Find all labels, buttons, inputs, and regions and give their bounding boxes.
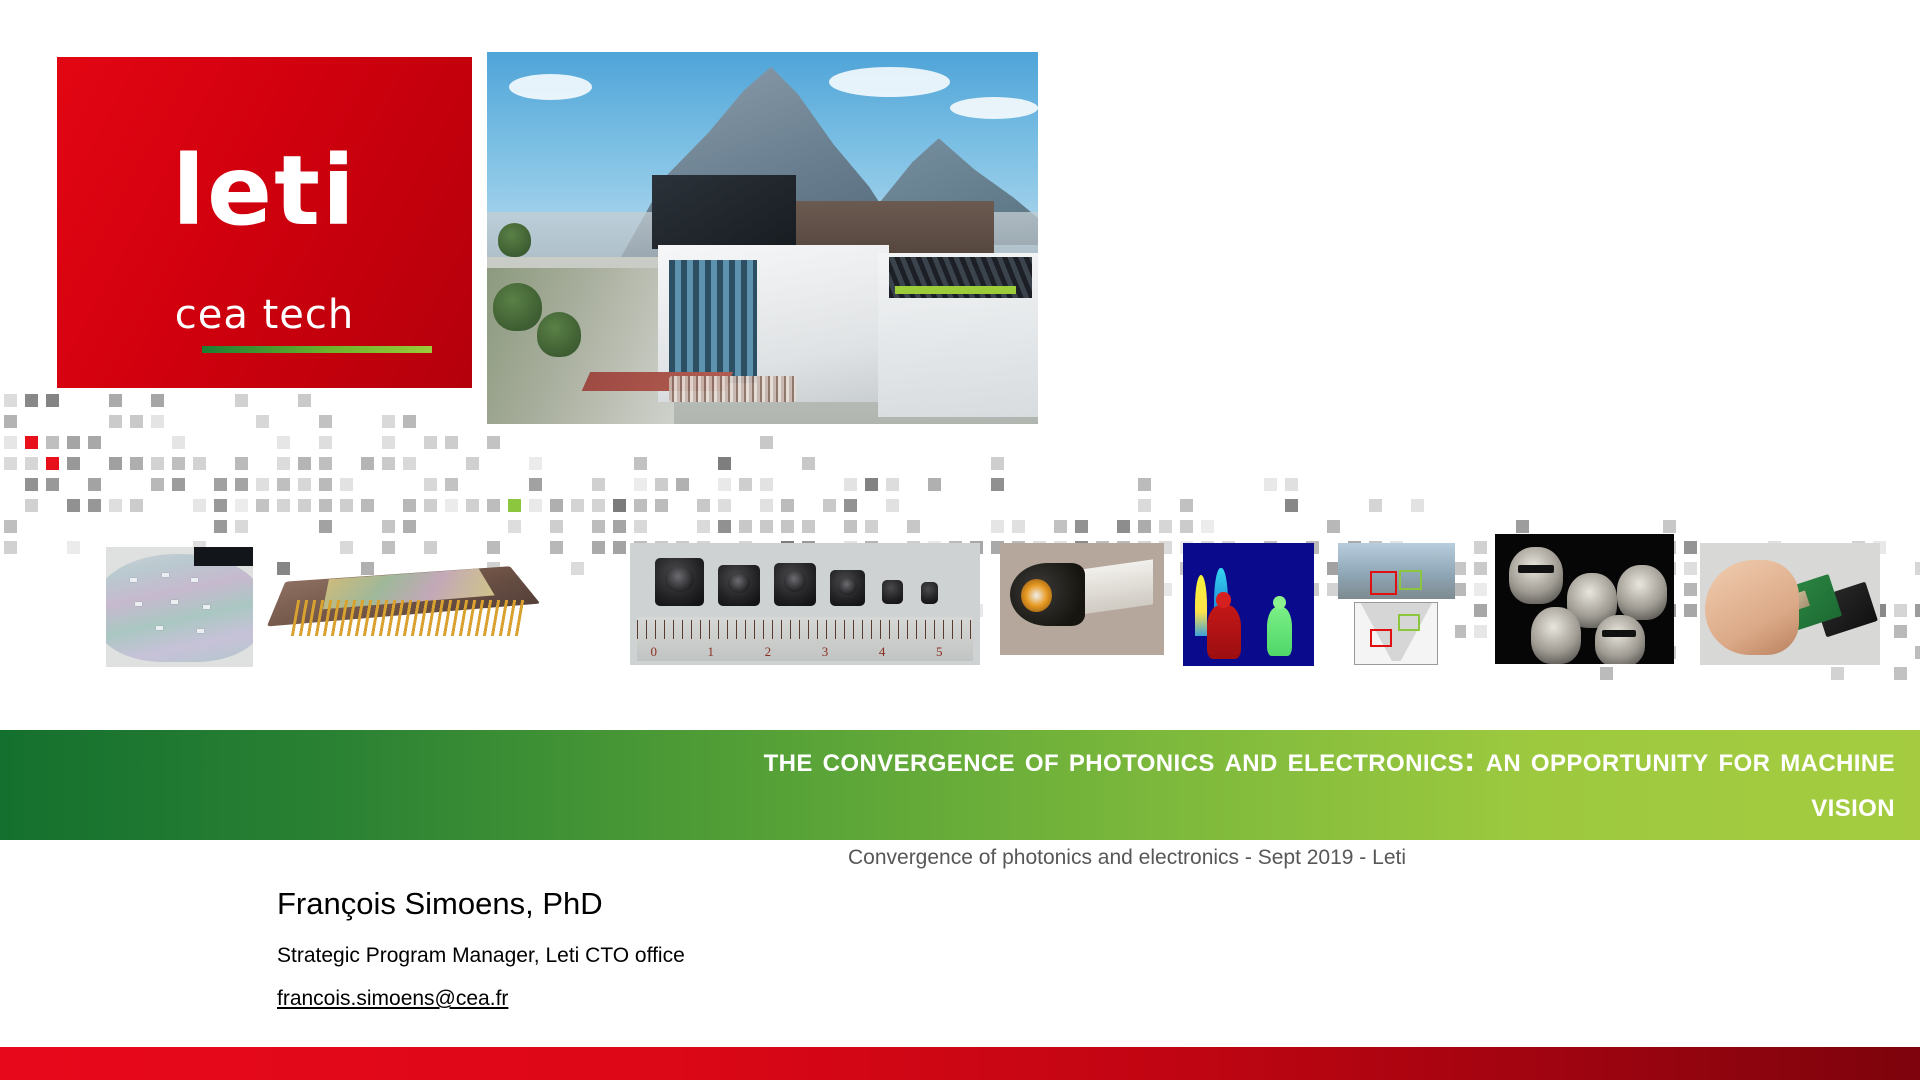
camera-module — [655, 558, 704, 607]
mosaic-pixel — [235, 499, 248, 512]
camera-modules-photo: 0 1 2 3 4 5 — [630, 543, 980, 665]
mosaic-pixel — [487, 499, 500, 512]
mosaic-pixel — [4, 436, 17, 449]
mosaic-pixel — [403, 457, 416, 470]
mosaic-pixel — [1075, 520, 1088, 533]
ruler-number: 5 — [936, 644, 943, 660]
mosaic-pixel — [1201, 520, 1214, 533]
mosaic-pixel — [172, 478, 185, 491]
mosaic-pixel — [235, 394, 248, 407]
mosaic-pixel — [382, 520, 395, 533]
mosaic-pixel — [529, 478, 542, 491]
mosaic-pixel — [235, 478, 248, 491]
slide-subtitle: Convergence of photonics and electronics… — [848, 846, 1406, 870]
mosaic-pixel — [235, 520, 248, 533]
mosaic-pixel — [1369, 499, 1382, 512]
mosaic-pixel — [508, 520, 521, 533]
photo-cloud — [950, 97, 1038, 119]
ruler-number: 3 — [822, 644, 829, 660]
mosaic-pixel — [592, 478, 605, 491]
mosaic-pixel — [46, 457, 59, 470]
mosaic-pixel — [151, 478, 164, 491]
mosaic-pixel — [508, 499, 521, 512]
mosaic-pixel — [760, 520, 773, 533]
mosaic-pixel — [361, 457, 374, 470]
wafer-surface — [106, 554, 253, 662]
mosaic-pixel — [1285, 499, 1298, 512]
mosaic-pixel — [424, 478, 437, 491]
mosaic-pixel — [340, 478, 353, 491]
lidar-detection-photo — [1338, 543, 1455, 665]
mosaic-pixel — [4, 541, 17, 554]
infrared-faces-photo — [1495, 534, 1674, 664]
photo-glass-facade — [669, 260, 757, 383]
mosaic-pixel — [550, 499, 563, 512]
mosaic-pixel — [592, 520, 605, 533]
mosaic-pixel — [1600, 667, 1613, 680]
ruler-number: 0 — [650, 644, 657, 660]
mosaic-pixel — [1663, 520, 1676, 533]
mosaic-pixel — [739, 520, 752, 533]
lidar-range-plot — [1354, 602, 1438, 665]
mosaic-pixel — [1327, 520, 1340, 533]
mosaic-pixel — [172, 436, 185, 449]
wafer-die — [130, 578, 137, 582]
mosaic-pixel — [1516, 520, 1529, 533]
mosaic-pixel — [613, 541, 626, 554]
mosaic-pixel — [1684, 541, 1697, 554]
hand-holding-pcb-photo — [1700, 543, 1880, 665]
mosaic-pixel — [382, 436, 395, 449]
mosaic-pixel — [319, 415, 332, 428]
wafer-die — [197, 629, 204, 633]
mosaic-pixel — [445, 436, 458, 449]
mosaic-pixel — [1054, 520, 1067, 533]
mosaic-pixel — [46, 478, 59, 491]
mosaic-pixel — [25, 478, 38, 491]
mosaic-pixel — [403, 520, 416, 533]
title-band: The convergence of photonics and electro… — [0, 730, 1920, 840]
thermal-imaging-photo — [1183, 543, 1314, 666]
photo-tree — [537, 312, 581, 357]
mosaic-pixel — [403, 415, 416, 428]
mosaic-pixel — [1474, 562, 1487, 575]
mosaic-pixel — [1831, 667, 1844, 680]
mosaic-pixel — [1915, 604, 1920, 617]
mosaic-pixel — [1684, 604, 1697, 617]
mosaic-pixel — [634, 520, 647, 533]
mosaic-pixel — [25, 499, 38, 512]
mosaic-pixel — [130, 457, 143, 470]
camera-module — [921, 582, 939, 604]
mosaic-pixel — [1285, 478, 1298, 491]
mosaic-pixel — [886, 499, 899, 512]
mosaic-pixel — [88, 499, 101, 512]
mosaic-pixel — [172, 457, 185, 470]
mosaic-pixel — [1264, 478, 1277, 491]
mosaic-pixel — [634, 457, 647, 470]
thermal-person-warm — [1207, 605, 1241, 659]
ir-face — [1531, 607, 1581, 664]
silicon-wafer-photo — [106, 547, 253, 667]
mosaic-pixel — [697, 499, 710, 512]
mosaic-pixel — [109, 499, 122, 512]
mosaic-pixel — [1894, 604, 1907, 617]
wafer-die — [203, 605, 210, 609]
mosaic-pixel — [319, 457, 332, 470]
author-role: Strategic Program Manager, Leti CTO offi… — [277, 942, 685, 969]
mosaic-pixel — [844, 478, 857, 491]
mosaic-pixel — [592, 541, 605, 554]
mosaic-pixel — [991, 478, 1004, 491]
mosaic-pixel — [634, 499, 647, 512]
mosaic-pixel — [1474, 625, 1487, 638]
mosaic-pixel — [1474, 604, 1487, 617]
detection-box-green — [1398, 614, 1420, 631]
mosaic-pixel — [1684, 562, 1697, 575]
mosaic-pixel — [67, 499, 80, 512]
mosaic-pixel — [256, 478, 269, 491]
mosaic-pixel — [445, 499, 458, 512]
mosaic-pixel — [571, 499, 584, 512]
mosaic-pixel — [319, 499, 332, 512]
mosaic-pixel — [214, 478, 227, 491]
wafer-die — [162, 573, 169, 577]
photo-green-accent-band — [895, 286, 1016, 293]
mosaic-pixel — [697, 520, 710, 533]
mosaic-pixel — [88, 436, 101, 449]
mosaic-pixel — [1180, 520, 1193, 533]
mosaic-pixel — [907, 520, 920, 533]
mosaic-pixel — [319, 478, 332, 491]
mosaic-pixel — [802, 520, 815, 533]
author-email-link[interactable]: francois.simoens@cea.fr — [277, 987, 508, 1011]
detection-box-red — [1370, 571, 1397, 595]
wafer-background-dark — [194, 547, 253, 566]
camera-module — [718, 565, 760, 606]
wafer-die — [171, 600, 178, 604]
mosaic-pixel — [193, 457, 206, 470]
mosaic-pixel — [718, 520, 731, 533]
mosaic-pixel — [382, 415, 395, 428]
camera-lens — [784, 570, 807, 592]
mosaic-pixel — [1117, 520, 1130, 533]
mosaic-pixel — [361, 499, 374, 512]
leti-campus-building-photo — [487, 52, 1038, 424]
mosaic-pixel — [151, 394, 164, 407]
mosaic-pixel — [760, 436, 773, 449]
wafer-die — [156, 626, 163, 630]
mosaic-pixel — [67, 436, 80, 449]
ir-face — [1509, 547, 1563, 604]
mosaic-pixel — [592, 499, 605, 512]
mosaic-pixel — [844, 499, 857, 512]
mosaic-pixel — [319, 436, 332, 449]
mosaic-pixel — [109, 415, 122, 428]
mosaic-pixel — [277, 499, 290, 512]
mosaic-pixel — [277, 436, 290, 449]
thermal-person-cool — [1267, 607, 1292, 656]
mosaic-pixel — [1138, 499, 1151, 512]
mosaic-pixel — [67, 541, 80, 554]
mosaic-pixel — [67, 457, 80, 470]
mosaic-pixel — [781, 499, 794, 512]
ruler-number: 4 — [879, 644, 886, 660]
mosaic-pixel — [718, 457, 731, 470]
mosaic-pixel — [1915, 562, 1920, 575]
mosaic-pixel — [130, 499, 143, 512]
mosaic-pixel — [1180, 499, 1193, 512]
bottom-accent-bar — [0, 1047, 1920, 1080]
mosaic-pixel — [151, 415, 164, 428]
logo-underline-bar — [202, 346, 432, 353]
mosaic-pixel — [298, 499, 311, 512]
mosaic-pixel — [4, 394, 17, 407]
sunglasses-icon — [1518, 565, 1554, 573]
mosaic-pixel — [571, 562, 584, 575]
mosaic-pixel — [319, 520, 332, 533]
mosaic-pixel — [1894, 625, 1907, 638]
leti-wordmark: leti — [57, 143, 472, 239]
detection-box-green — [1399, 570, 1422, 590]
mosaic-pixel — [844, 520, 857, 533]
photo-dark-glass-block — [652, 175, 795, 249]
mosaic-pixel — [991, 520, 1004, 533]
mosaic-pixel — [760, 478, 773, 491]
mosaic-pixel — [1138, 478, 1151, 491]
ruler-number: 1 — [708, 644, 715, 660]
endoscope-tube — [1074, 560, 1153, 616]
mosaic-pixel — [298, 457, 311, 470]
endoscope-optics-photo — [1000, 543, 1164, 655]
mosaic-pixel — [382, 457, 395, 470]
mosaic-pixel — [298, 478, 311, 491]
mosaic-pixel — [1894, 667, 1907, 680]
sunglasses-icon — [1602, 630, 1636, 637]
ir-face — [1595, 615, 1645, 664]
mosaic-pixel — [25, 436, 38, 449]
photo-crowd — [669, 376, 796, 402]
detection-box-red — [1370, 629, 1392, 646]
mosaic-pixel — [25, 394, 38, 407]
mosaic-pixel — [823, 499, 836, 512]
ir-face — [1617, 565, 1667, 620]
mosaic-pixel — [991, 457, 1004, 470]
mosaic-pixel — [25, 457, 38, 470]
mosaic-pixel — [760, 499, 773, 512]
mosaic-pixel — [529, 499, 542, 512]
camera-lens — [838, 577, 857, 595]
slide-title: The convergence of photonics and electro… — [715, 738, 1895, 828]
mosaic-pixel — [340, 499, 353, 512]
mosaic-pixel — [1684, 583, 1697, 596]
mosaic-pixel — [886, 478, 899, 491]
mosaic-pixel — [466, 457, 479, 470]
mosaic-pixel — [865, 520, 878, 533]
hand — [1705, 560, 1799, 655]
mosaic-pixel — [256, 415, 269, 428]
mosaic-pixel — [487, 436, 500, 449]
ruler-ticks — [637, 620, 973, 638]
mosaic-pixel — [277, 478, 290, 491]
mosaic-pixel — [1915, 646, 1920, 659]
photo-tree — [493, 283, 543, 331]
mosaic-pixel — [256, 499, 269, 512]
mosaic-pixel — [403, 499, 416, 512]
thermal-plume — [1195, 575, 1207, 637]
camera-lens — [728, 573, 751, 593]
author-name: François Simoens, PhD — [277, 885, 685, 924]
ruler-number: 2 — [765, 644, 772, 660]
mosaic-pixel — [781, 520, 794, 533]
mosaic-pixel — [4, 457, 17, 470]
camera-module — [882, 580, 903, 604]
mosaic-pixel — [298, 394, 311, 407]
mosaic-pixel — [718, 478, 731, 491]
mosaic-pixel — [193, 499, 206, 512]
package-gold-pins — [291, 600, 528, 636]
mosaic-pixel — [1474, 541, 1487, 554]
mosaic-pixel — [655, 478, 668, 491]
mosaic-pixel — [88, 478, 101, 491]
mosaic-pixel — [214, 520, 227, 533]
photo-cloud — [829, 67, 950, 97]
mosaic-pixel — [676, 478, 689, 491]
author-block: François Simoens, PhD Strategic Program … — [277, 885, 685, 1011]
mosaic-pixel — [424, 499, 437, 512]
mosaic-pixel — [1012, 520, 1025, 533]
mosaic-pixel — [613, 499, 626, 512]
mosaic-pixel — [130, 415, 143, 428]
leti-cea-tech-logo: leti cea tech — [57, 57, 472, 388]
mosaic-pixel — [865, 478, 878, 491]
wafer-die — [135, 602, 142, 606]
mosaic-pixel — [466, 499, 479, 512]
mosaic-pixel — [613, 520, 626, 533]
mosaic-pixel — [718, 499, 731, 512]
mosaic-pixel — [214, 499, 227, 512]
mosaic-pixel — [445, 478, 458, 491]
mosaic-pixel — [4, 415, 17, 428]
mosaic-pixel — [4, 520, 17, 533]
ruler: 0 1 2 3 4 5 — [637, 617, 973, 661]
mosaic-pixel — [46, 394, 59, 407]
mosaic-pixel — [151, 457, 164, 470]
mosaic-pixel — [655, 499, 668, 512]
mosaic-pixel — [235, 457, 248, 470]
mosaic-pixel — [109, 394, 122, 407]
wafer-die — [191, 578, 198, 582]
photo-tree — [498, 223, 531, 256]
camera-module — [830, 570, 865, 607]
mosaic-pixel — [634, 478, 647, 491]
mosaic-pixel — [1411, 499, 1424, 512]
mosaic-pixel — [928, 478, 941, 491]
mosaic-pixel — [802, 457, 815, 470]
mosaic-pixel — [109, 457, 122, 470]
mosaic-pixel — [529, 457, 542, 470]
mosaic-pixel — [1138, 520, 1151, 533]
mosaic-pixel — [46, 436, 59, 449]
mosaic-pixel — [424, 436, 437, 449]
mosaic-pixel — [1474, 583, 1487, 596]
mosaic-pixel — [1159, 520, 1172, 533]
camera-lens — [665, 566, 693, 591]
mosaic-pixel — [550, 520, 563, 533]
camera-module — [774, 563, 816, 607]
mosaic-pixel — [739, 478, 752, 491]
ceramic-chip-package-photo — [265, 533, 553, 653]
mosaic-pixel — [277, 457, 290, 470]
cea-tech-wordmark: cea tech — [57, 292, 472, 338]
